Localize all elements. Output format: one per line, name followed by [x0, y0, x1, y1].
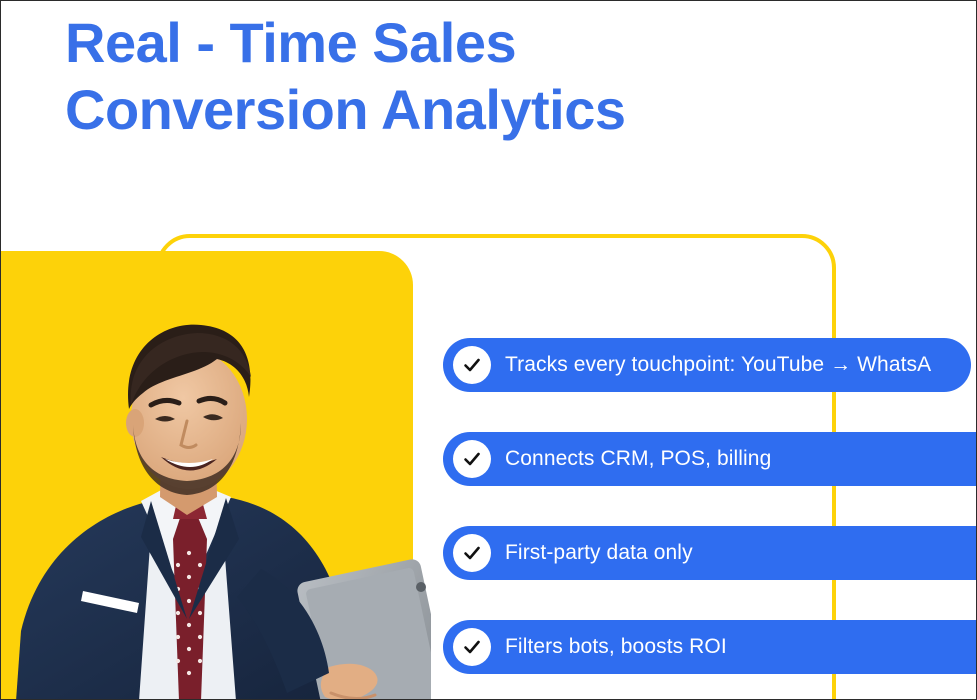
slide-canvas: Real - Time Sales Conversion Analytics T…: [0, 0, 977, 700]
title-line-1: Real - Time Sales: [65, 9, 785, 76]
check-icon: [453, 440, 491, 478]
feature-pill-3[interactable]: First-party data only: [443, 526, 977, 580]
feature-pill-3-label: First-party data only: [505, 541, 693, 565]
feature-pill-2-label: Connects CRM, POS, billing: [505, 447, 771, 471]
feature-pill-4-label: Filters bots, boosts ROI: [505, 635, 727, 659]
page-title: Real - Time Sales Conversion Analytics: [65, 9, 785, 143]
check-icon: [453, 534, 491, 572]
check-icon: [453, 628, 491, 666]
title-line-2: Conversion Analytics: [65, 76, 785, 143]
businessman-photo: [11, 301, 431, 700]
feature-pill-1[interactable]: Tracks every touchpoint: YouTube → Whats…: [443, 338, 971, 392]
check-icon: [453, 346, 491, 384]
feature-pill-4[interactable]: Filters bots, boosts ROI: [443, 620, 977, 674]
feature-pill-2[interactable]: Connects CRM, POS, billing: [443, 432, 977, 486]
feature-pill-1-label: Tracks every touchpoint: YouTube → Whats…: [505, 353, 931, 377]
